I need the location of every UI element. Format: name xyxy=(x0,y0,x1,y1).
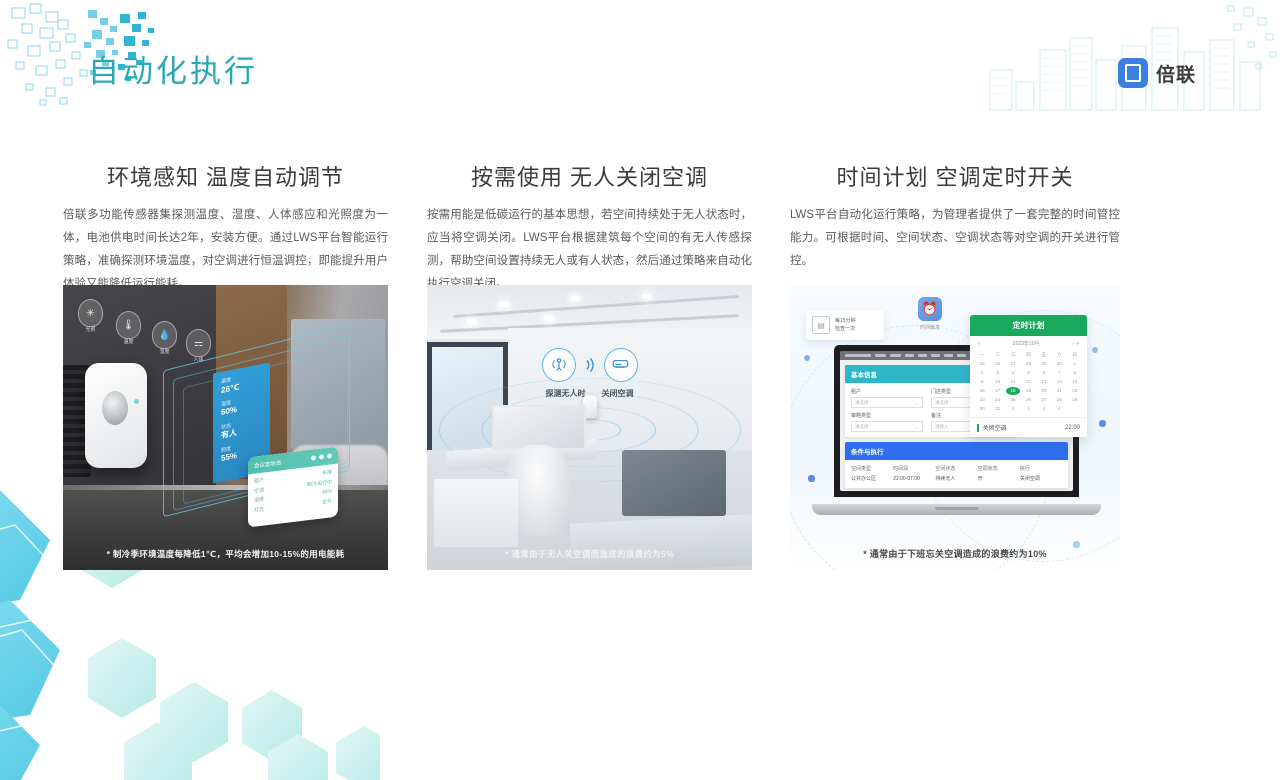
condition-execution-table: 空间类型 时间段 空间状态 空调状态 执行 公共办公区 22:00-07:00 … xyxy=(845,460,1068,488)
brand-name: 倍联 xyxy=(1156,60,1196,87)
schedule-plan-action: 关闭空调 xyxy=(977,423,1007,432)
feature-2-heading: 按需使用 无人关闭空调 xyxy=(427,160,752,192)
laptop-notch xyxy=(935,507,979,510)
field-store-type-placeholder: 请选择 xyxy=(935,400,949,406)
feature-column-2: 按需使用 无人关闭空调 按需用能是低碳运行的基本思想，若空间持续处于无人状态时，… xyxy=(427,160,752,296)
fig2-ceiling-lamp xyxy=(466,319,476,324)
detection-action-labels: 探测无人时 关闭空调 xyxy=(546,388,634,399)
calendar-day[interactable]: 18 xyxy=(1006,387,1020,395)
fig2-monitor-left xyxy=(492,405,586,451)
reading-occupancy: 状态 有人 xyxy=(221,417,262,442)
sensor-led-indicator xyxy=(134,399,139,404)
action-label: 关闭空调 xyxy=(602,388,634,399)
calendar-day[interactable]: 8 xyxy=(1068,369,1082,377)
calendar-day[interactable]: 6 xyxy=(1037,369,1051,377)
feature-3-heading: 时间计划 空调定时开关 xyxy=(790,160,1120,192)
calendar-day[interactable]: 30 xyxy=(975,405,989,413)
calendar-day[interactable]: 26 xyxy=(1021,396,1035,404)
motion-sensor-glyph: ⚎ xyxy=(194,338,203,349)
figure-3-caption: * 通常由于下班忘关空调造成的浪费约为10% xyxy=(790,547,1120,560)
calendar-month: 2023年10月 xyxy=(1013,340,1040,347)
multifunction-sensor-device xyxy=(85,363,147,468)
feature-column-1: 环境感知 温度自动调节 倍联多功能传感器集探测温度、湿度、人体感应和光照度为一体… xyxy=(63,160,388,296)
cell-action: 关闭空调 xyxy=(1020,474,1062,484)
humidity-sensor-label: 湿度 xyxy=(159,348,169,355)
calendar-day[interactable]: 30 xyxy=(1052,360,1066,368)
calendar-day[interactable]: 27 xyxy=(1006,360,1020,368)
calendar-grid[interactable]: 一二三四五六日252627282930123456789101112131415… xyxy=(970,351,1087,413)
col-space-status: 空间状态 xyxy=(935,464,977,474)
light-sensor-label: 光照 xyxy=(85,326,95,333)
figure-occupancy-office: 探测无人时 关闭空调 * 通常由于无人关空调而造成的浪费约为5% xyxy=(427,285,752,570)
temperature-sensor-label: 温度 xyxy=(123,338,133,345)
calendar-day[interactable]: 3 xyxy=(990,369,1004,377)
calendar-day[interactable]: 19 xyxy=(1021,387,1035,395)
col-action: 执行 xyxy=(1020,464,1062,474)
room-status-key: 灯光 xyxy=(254,505,264,516)
calendar-day[interactable]: 14 xyxy=(1052,378,1066,386)
calendar-day[interactable]: 1 xyxy=(1006,405,1020,413)
brand-mark-icon xyxy=(1118,58,1148,88)
table-row: 公共办公区 22:00-07:00 持续无人 开 关闭空调 xyxy=(851,474,1062,484)
room-status-card: 会议室状态 租户 未接 空调 制冷运行中 湿度 46% 灯光 全开 xyxy=(248,446,338,527)
calendar-header: ‹‹ 2023年10月 › ＋ xyxy=(970,336,1087,351)
humidity-sensor-icon: 💧 湿度 xyxy=(152,321,177,349)
condition-execution-title: 条件与执行 xyxy=(845,442,1068,460)
feature-column-3: 时间计划 空调定时开关 LWS平台自动化运行策略，为管理者提供了一套完整的时间管… xyxy=(790,160,1120,273)
calendar-weekday: 三 xyxy=(1006,351,1020,359)
calendar-day[interactable]: 13 xyxy=(1037,378,1051,386)
schedule-plan-card: 定时计划 ‹‹ 2023年10月 › ＋ 一二三四五六日252627282930… xyxy=(970,315,1087,437)
calendar-day[interactable]: 26 xyxy=(990,360,1004,368)
field-tenant-label: 租户 xyxy=(851,388,923,395)
field-strategy-type-placeholder: 请选择 xyxy=(855,424,869,430)
calendar-day[interactable]: 27 xyxy=(1037,396,1051,404)
calendar-day[interactable]: 24 xyxy=(990,396,1004,404)
feature-1-heading: 环境感知 温度自动调节 xyxy=(63,160,388,192)
calendar-day[interactable]: 9 xyxy=(975,378,989,386)
fig2-desk-right xyxy=(570,514,752,570)
calendar-weekday: 五 xyxy=(1037,351,1051,359)
cell-space-type: 公共办公区 xyxy=(851,474,893,484)
decorative-dot xyxy=(808,475,815,482)
room-status-value: 全开 xyxy=(322,497,332,508)
schedule-list-icon: ▤ xyxy=(812,316,830,334)
page-title: 自动化执行 xyxy=(88,46,258,91)
calendar-day[interactable]: 17 xyxy=(990,387,1004,395)
calendar-day[interactable]: 22 xyxy=(1068,387,1082,395)
window-controls-icon xyxy=(311,453,332,461)
field-strategy-type-label: 策略类型 xyxy=(851,412,923,419)
light-sensor-glyph: ✳ xyxy=(86,308,94,319)
chevron-down-icon: ⌄ xyxy=(915,424,919,430)
fig2-monitor-right xyxy=(622,450,726,516)
temperature-sensor-glyph: 🌡 xyxy=(122,320,135,331)
calendar-day[interactable]: 31 xyxy=(990,405,1004,413)
calendar-day[interactable]: 4 xyxy=(1006,369,1020,377)
table-header-row: 空间类型 时间段 空间状态 空调状态 执行 xyxy=(851,464,1062,474)
figure-time-schedule: ▤ 每15分钟 检查一次 ⏰ 时间触发 基本信息 xyxy=(790,285,1120,570)
detection-action-badges xyxy=(542,348,638,382)
time-trigger-label: 时间触发 xyxy=(918,324,942,331)
schedule-plan-action-label: 关闭空调 xyxy=(983,426,1007,432)
field-strategy-type: 策略类型 请选择 ⌄ xyxy=(851,412,923,432)
figure-1-caption: * 制冷季环境温度每降低1℃，平均会增加10-15%的用电能耗 xyxy=(63,548,388,560)
detect-label: 探测无人时 xyxy=(546,388,586,399)
light-sensor-icon: ✳ 光照 xyxy=(78,299,103,327)
calendar-day[interactable]: 29 xyxy=(1037,360,1051,368)
reading-humidity: 湿度 60% xyxy=(221,394,262,419)
calendar-day[interactable]: 10 xyxy=(990,378,1004,386)
condition-execution-card: 条件与执行 空间类型 时间段 空间状态 空调状态 执行 公共办公区 22:00-… xyxy=(845,442,1068,488)
fig2-ceiling-lamp xyxy=(499,302,509,307)
calendar-day[interactable]: 3 xyxy=(1037,405,1051,413)
schedule-plan-time: 22:00 xyxy=(1065,425,1080,431)
schedule-plan-title: 定时计划 xyxy=(970,315,1087,336)
calendar-day[interactable]: 25 xyxy=(975,360,989,368)
cell-time-range: 22:00-07:00 xyxy=(893,474,935,484)
calendar-day[interactable]: 12 xyxy=(1021,378,1035,386)
calendar-weekday: 日 xyxy=(1068,351,1082,359)
calendar-day[interactable]: 15 xyxy=(1068,378,1082,386)
check-interval-line2: 检查一次 xyxy=(835,325,856,334)
calendar-day[interactable]: 1 xyxy=(1068,360,1082,368)
calendar-day[interactable]: 28 xyxy=(1021,360,1035,368)
check-interval-text: 每15分钟 检查一次 xyxy=(835,317,856,334)
cell-space-status: 持续无人 xyxy=(935,474,977,484)
calendar-day[interactable]: 21 xyxy=(1052,387,1066,395)
brand-logo: 倍联 xyxy=(1118,58,1196,88)
field-strategy-type-select[interactable]: 请选择 ⌄ xyxy=(851,421,923,432)
motion-sensor-icon: ⚎ 人体 xyxy=(186,329,211,357)
decorative-dot xyxy=(804,355,810,361)
calendar-day[interactable]: 4 xyxy=(1052,405,1066,413)
calendar-day[interactable]: 2 xyxy=(975,369,989,377)
page-header: 自动化执行 倍联 xyxy=(0,0,1280,140)
cell-ac-status: 开 xyxy=(978,474,1020,484)
field-tenant: 租户 请选择 ⌄ xyxy=(851,388,923,408)
air-conditioner-icon xyxy=(604,348,638,382)
reading-temperature: 温度 26℃ xyxy=(221,371,262,396)
calendar-day[interactable]: 20 xyxy=(1037,387,1051,395)
alarm-clock-icon: ⏰ xyxy=(918,297,942,321)
field-remark-placeholder: 请输入 xyxy=(935,424,949,430)
calendar-day[interactable]: 25 xyxy=(1006,396,1020,404)
sensor-lens xyxy=(102,391,128,425)
check-interval-line1: 每15分钟 xyxy=(835,317,856,326)
calendar-day[interactable]: 29 xyxy=(1068,396,1082,404)
calendar-weekday: 六 xyxy=(1052,351,1066,359)
fig2-ceiling-lamp xyxy=(570,296,580,301)
person-detect-icon xyxy=(542,348,576,382)
calendar-weekday: 四 xyxy=(1021,351,1035,359)
feature-1-body: 倍联多功能传感器集探测温度、湿度、人体感应和光照度为一体，电池供电时间长达2年，… xyxy=(63,204,388,296)
calendar-day[interactable]: 7 xyxy=(1052,369,1066,377)
fig2-ceiling-lamp xyxy=(544,316,554,321)
figure-environment-sensing: ✳ 光照 🌡 温度 💧 湿度 ⚎ 人体 温度 26℃ 湿度 60% 状态 有人 xyxy=(63,285,388,570)
decorative-dot xyxy=(1092,347,1098,353)
room-status-title: 会议室状态 xyxy=(254,458,282,469)
chevron-down-icon: ⌄ xyxy=(915,400,919,406)
humidity-sensor-glyph: 💧 xyxy=(158,330,170,341)
fig2-ceiling-lamp xyxy=(642,294,652,299)
calendar-weekday: 一 xyxy=(975,351,989,359)
decorative-dot xyxy=(1099,420,1106,427)
room-status-body: 租户 未接 空调 制冷运行中 湿度 46% 灯光 全开 xyxy=(248,463,338,520)
feature-3-body: LWS平台自动化运行策略，为管理者提供了一套完整的时间管控能力。可根据时间、空间… xyxy=(790,204,1120,273)
check-interval-tooltip: ▤ 每15分钟 检查一次 xyxy=(806,310,884,340)
calendar-prev-icon[interactable]: ‹‹ xyxy=(977,341,980,347)
field-tenant-select[interactable]: 请选择 ⌄ xyxy=(851,397,923,408)
calendar-next-icon[interactable]: › ＋ xyxy=(1072,340,1080,347)
schedule-plan-row: 关闭空调 22:00 xyxy=(970,417,1087,432)
col-ac-status: 空调状态 xyxy=(978,464,1020,474)
time-trigger-node: ⏰ 时间触发 xyxy=(918,297,942,331)
feature-2-body: 按需用能是低碳运行的基本思想，若空间持续处于无人状态时，应当将空调关闭。LWS平… xyxy=(427,204,752,296)
calendar-day[interactable]: 23 xyxy=(975,396,989,404)
calendar-weekday: 二 xyxy=(990,351,1004,359)
calendar-day[interactable]: 28 xyxy=(1052,396,1066,404)
calendar-day[interactable]: 2 xyxy=(1021,405,1035,413)
signal-wave-icon xyxy=(583,355,597,375)
temperature-sensor-icon: 🌡 温度 xyxy=(116,311,141,339)
calendar-day[interactable]: 11 xyxy=(1006,378,1020,386)
figure-2-caption: * 通常由于无人关空调而造成的浪费约为5% xyxy=(427,548,752,560)
fig2-cabinet xyxy=(434,479,519,547)
col-time-range: 时间段 xyxy=(893,464,935,474)
calendar-day[interactable]: 5 xyxy=(1021,369,1035,377)
field-tenant-placeholder: 请选择 xyxy=(855,400,869,406)
calendar-day[interactable]: 16 xyxy=(975,387,989,395)
col-space-type: 空间类型 xyxy=(851,464,893,474)
